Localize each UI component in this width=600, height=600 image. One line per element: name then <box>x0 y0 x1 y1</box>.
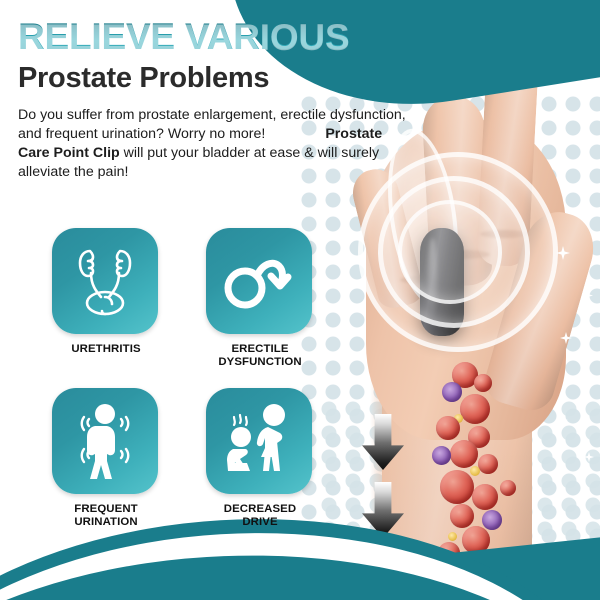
couple-low-libido-icon <box>220 401 298 481</box>
benefit-label: DECREASED DRIVE <box>206 503 314 530</box>
benefit-label: ERECTILE DYSFUNCTION <box>206 343 314 370</box>
benefit-tile <box>206 228 312 334</box>
benefit-tile <box>206 388 312 494</box>
benefit-card-erectile-dysfunction[interactable]: ERECTILE DYSFUNCTION <box>206 228 314 370</box>
benefit-card-grid: URETHRITIS ERECTILE DYSFUNCTION <box>52 228 314 530</box>
knuckle-crease <box>480 230 528 238</box>
copy-block: RELIEVE VARIOUS Prostate Problems Do you… <box>18 18 410 182</box>
product-ad-image: RELIEVE VARIOUS Prostate Problems Do you… <box>0 0 600 600</box>
benefit-card-frequent-urination[interactable]: FREQUENT URINATION <box>52 388 160 530</box>
benefit-label: FREQUENT URINATION <box>52 503 160 530</box>
headline-primary: RELIEVE VARIOUS <box>18 18 410 56</box>
male-symbol-drooping-arrow-icon <box>222 250 296 312</box>
benefit-card-row: URETHRITIS ERECTILE DYSFUNCTION <box>52 228 314 370</box>
benefit-tile <box>52 228 158 334</box>
person-holding-bladder-icon <box>70 401 140 481</box>
benefit-card-urethritis[interactable]: URETHRITIS <box>52 228 160 370</box>
body-copy: Do you suffer from prostate enlargement,… <box>18 106 410 182</box>
benefit-tile <box>52 388 158 494</box>
headline-secondary: Prostate Problems <box>18 63 410 94</box>
benefit-card-decreased-drive[interactable]: DECREASED DRIVE <box>206 388 314 530</box>
kidney-bladder-icon <box>70 243 140 319</box>
benefit-card-row: FREQUENT URINATION <box>52 388 314 530</box>
benefit-label: URETHRITIS <box>52 343 160 356</box>
black-prostate-care-point-clip <box>420 228 464 336</box>
